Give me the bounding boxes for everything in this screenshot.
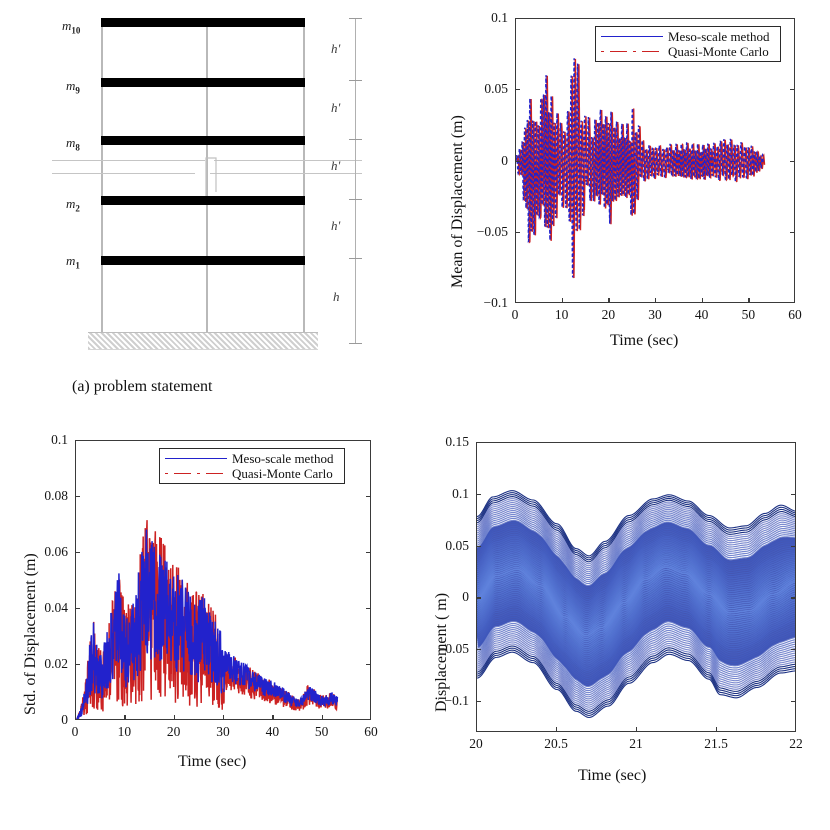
std-y-axis-label: Std. of Displacement (m)	[22, 553, 40, 715]
y-tick-label: 0	[61, 712, 68, 728]
x-tick-label: 10	[118, 724, 132, 740]
mean-y-axis-label: Mean of Displacement (m)	[449, 115, 467, 288]
legend-line-dashdot-icon	[601, 47, 663, 57]
column-left	[101, 18, 103, 332]
x-tick	[562, 298, 563, 303]
legend-label-qmc: Quasi-Monte Carlo	[668, 44, 769, 60]
y-tick-label: 0.06	[44, 544, 68, 560]
break-symbol-lower-left	[52, 173, 195, 174]
height-label-3: h'	[331, 158, 340, 174]
floor-slab-2	[101, 196, 305, 205]
x-tick	[655, 298, 656, 303]
x-tick-label: 21.5	[704, 736, 728, 752]
legend-row-qmc: Quasi-Monte Carlo	[601, 44, 775, 59]
x-tick-label: 40	[266, 724, 280, 740]
y-tick-label: 0.05	[484, 81, 508, 97]
legend-label-qmc-std: Quasi-Monte Carlo	[232, 466, 333, 482]
y-tick-right	[366, 608, 371, 609]
y-tick-label: −0.1	[445, 693, 470, 709]
break-symbol-upper-left	[52, 160, 205, 161]
x-tick-label: 30	[216, 724, 230, 740]
y-tick	[515, 161, 520, 162]
y-tick-label: −0.05	[477, 224, 508, 240]
y-tick-label: 0	[462, 589, 469, 605]
y-tick-label: 0	[501, 153, 508, 169]
break-symbol-icon	[190, 152, 230, 196]
legend-row-meso: Meso-scale method	[601, 29, 775, 44]
y-tick-right	[790, 161, 795, 162]
y-tick-right	[791, 649, 796, 650]
x-tick-label: 60	[788, 307, 802, 323]
floor-slab-9	[101, 78, 305, 87]
height-label-1: h'	[331, 41, 340, 57]
std-x-axis-label: Time (sec)	[178, 753, 246, 771]
x-tick-label: 20	[602, 307, 616, 323]
y-tick-right	[791, 494, 796, 495]
dimension-tick-1	[349, 80, 362, 81]
mean-plot-legend: Meso-scale method Quasi-Monte Carlo	[595, 26, 781, 62]
mass-label-m8: m8	[66, 135, 80, 153]
displacement-contour-plot[interactable]	[476, 442, 796, 732]
x-tick-label: 21	[629, 736, 643, 752]
legend-line-dashdot-icon	[165, 469, 227, 479]
column-right	[303, 18, 305, 332]
y-tick	[75, 496, 80, 497]
y-tick-label: 0.15	[445, 434, 469, 450]
legend-row-meso-std: Meso-scale method	[165, 451, 339, 466]
y-tick-label: 0.1	[491, 10, 508, 26]
y-tick-right	[790, 232, 795, 233]
y-tick	[476, 546, 481, 547]
y-tick-label: 0.05	[445, 538, 469, 554]
height-label-2: h'	[331, 100, 340, 116]
y-tick-right	[366, 664, 371, 665]
x-tick	[174, 715, 175, 720]
x-tick	[223, 715, 224, 720]
y-tick	[515, 232, 520, 233]
x-tick-label: 20	[167, 724, 181, 740]
floor-slab-1	[101, 256, 305, 265]
x-tick-label: 22	[789, 736, 803, 752]
mean-displacement-panel: Meso-scale method Quasi-Monte Carlo Time…	[415, 0, 830, 400]
y-tick	[515, 89, 520, 90]
x-tick	[322, 715, 323, 720]
x-tick-label: 60	[364, 724, 378, 740]
y-tick	[75, 552, 80, 553]
legend-label-meso: Meso-scale method	[668, 29, 769, 45]
std-plot-legend: Meso-scale method Quasi-Monte Carlo	[159, 448, 345, 484]
y-tick	[75, 608, 80, 609]
dimension-tick-4	[349, 258, 362, 259]
dimension-tick-top	[349, 18, 362, 19]
std-displacement-panel: Meso-scale method Quasi-Monte Carlo Time…	[0, 415, 415, 830]
mass-label-m9: m9	[66, 78, 80, 96]
dimension-tick-2	[349, 139, 362, 140]
y-tick-right	[366, 496, 371, 497]
y-tick-right	[790, 89, 795, 90]
y-tick-label: 0.04	[44, 600, 68, 616]
caption-problem-statement: (a) problem statement	[72, 378, 212, 396]
x-tick-label: 20	[469, 736, 483, 752]
y-tick-label: 0.08	[44, 488, 68, 504]
y-tick-label: −0.05	[438, 641, 469, 657]
x-tick-label: 20.5	[544, 736, 568, 752]
dimension-tick-3	[349, 199, 362, 200]
y-tick-label: 0.1	[51, 432, 68, 448]
legend-line-solid-icon	[601, 32, 663, 42]
height-label-5: h	[333, 289, 340, 305]
y-tick-right	[791, 701, 796, 702]
dimension-line	[355, 18, 356, 343]
x-tick	[716, 727, 717, 732]
legend-line-solid-icon	[165, 454, 227, 464]
x-tick-label: 50	[315, 724, 329, 740]
building-diagram: m10 m9 m8 m2 m1	[0, 0, 415, 415]
y-tick	[476, 701, 481, 702]
y-tick-label: −0.1	[484, 295, 509, 311]
x-tick	[636, 727, 637, 732]
x-tick-label: 0	[72, 724, 79, 740]
x-tick	[748, 298, 749, 303]
x-tick-label: 0	[512, 307, 519, 323]
height-label-4: h'	[331, 218, 340, 234]
contour-x-axis-label: Time (sec)	[578, 767, 646, 785]
x-tick-label: 40	[695, 307, 709, 323]
x-tick	[702, 298, 703, 303]
y-tick-right	[366, 552, 371, 553]
floor-slab-10	[101, 18, 305, 27]
y-tick	[75, 664, 80, 665]
displacement-contour-panel: Time (sec) Displacement ( m) 2020.52121.…	[415, 415, 830, 830]
mass-label-m10: m10	[62, 18, 80, 36]
y-tick-label: 0.1	[452, 486, 469, 502]
legend-label-meso-std: Meso-scale method	[232, 451, 333, 467]
y-tick	[476, 597, 481, 598]
mass-label-m2: m2	[66, 196, 80, 214]
problem-statement-panel: m10 m9 m8 m2 m1	[0, 0, 415, 415]
dimension-tick-bottom	[349, 343, 362, 344]
mean-x-axis-label: Time (sec)	[610, 332, 678, 350]
y-tick	[476, 494, 481, 495]
mass-label-m1: m1	[66, 253, 80, 271]
y-tick-label: 0.02	[44, 656, 68, 672]
y-tick	[476, 649, 481, 650]
x-tick	[272, 715, 273, 720]
x-tick-label: 10	[555, 307, 569, 323]
x-tick-label: 50	[742, 307, 756, 323]
x-tick-label: 30	[648, 307, 662, 323]
y-tick-right	[791, 597, 796, 598]
contour-band	[477, 443, 796, 732]
floor-slab-8	[101, 136, 305, 145]
x-tick	[556, 727, 557, 732]
ground-hatch	[88, 332, 318, 350]
legend-row-qmc-std: Quasi-Monte Carlo	[165, 466, 339, 481]
y-tick-right	[791, 546, 796, 547]
x-tick	[124, 715, 125, 720]
x-tick	[608, 298, 609, 303]
